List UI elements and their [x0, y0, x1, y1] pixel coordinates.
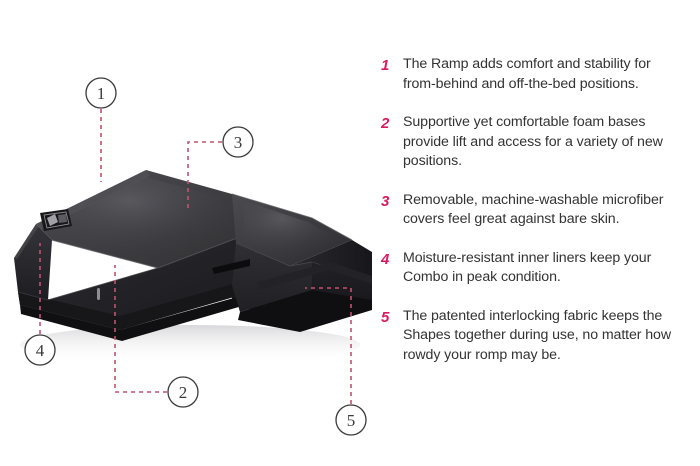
feature-item-1: 1 The Ramp adds comfort and stability fo…: [381, 55, 681, 94]
callout-leader-2: [115, 265, 167, 392]
feature-list: 1 The Ramp adds comfort and stability fo…: [381, 55, 681, 384]
callout-leader-5: [305, 288, 351, 404]
callout-marker-3-label: 3: [234, 133, 243, 152]
feature-text-4: Moisture-resistant inner liners keep you…: [403, 249, 681, 288]
feature-text-1: The Ramp adds comfort and stability for …: [403, 55, 681, 94]
feature-number-5: 5: [381, 307, 403, 327]
callout-marker-5[interactable]: 5: [336, 405, 366, 435]
feature-number-4: 4: [381, 249, 403, 269]
page-root: 1 3 4 2 5 1 The Ramp adds comfor: [0, 0, 700, 466]
callout-marker-2[interactable]: 2: [168, 377, 198, 407]
feature-item-3: 3 Removable, machine-washable microfiber…: [381, 191, 681, 230]
feature-text-3: Removable, machine-washable microfiber c…: [403, 191, 681, 230]
feature-text-2: Supportive yet comfortable foam bases pr…: [403, 113, 681, 172]
callout-marker-3[interactable]: 3: [223, 127, 253, 157]
feature-text-5: The patented interlocking fabric keeps t…: [403, 307, 681, 366]
callout-marker-4[interactable]: 4: [25, 335, 55, 365]
feature-item-2: 2 Supportive yet comfortable foam bases …: [381, 113, 681, 172]
feature-number-1: 1: [381, 55, 403, 75]
feature-item-4: 4 Moisture-resistant inner liners keep y…: [381, 249, 681, 288]
callout-leader-3: [188, 142, 222, 212]
feature-number-2: 2: [381, 113, 403, 133]
callout-marker-5-label: 5: [347, 411, 356, 430]
callout-overlay: 1 3 4 2 5: [0, 0, 375, 466]
callout-marker-1-label: 1: [97, 84, 106, 103]
feature-item-5: 5 The patented interlocking fabric keeps…: [381, 307, 681, 366]
product-illustration: 1 3 4 2 5: [0, 0, 375, 466]
callout-marker-4-label: 4: [36, 341, 45, 360]
feature-number-3: 3: [381, 191, 403, 211]
callout-marker-2-label: 2: [179, 383, 188, 402]
callout-marker-1[interactable]: 1: [86, 78, 116, 108]
